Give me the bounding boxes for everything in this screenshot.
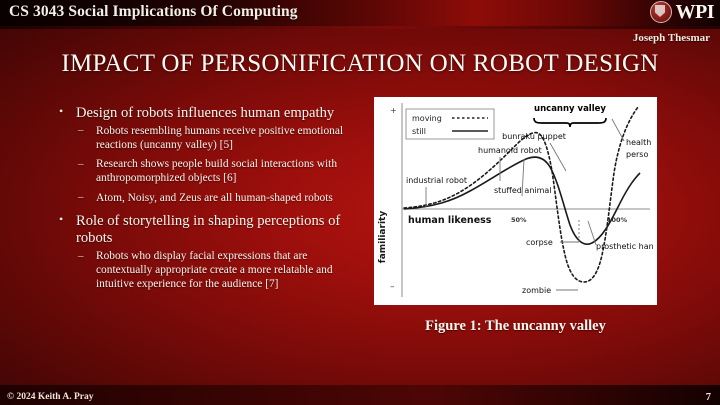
bullet-level2-text: Atom, Noisy, and Zeus are all human-shap… [96, 192, 333, 204]
presentation-slide: CS 3043 Social Implications Of Computing… [0, 0, 720, 405]
bullet-level2: – Robots who display facial expressions … [56, 250, 356, 291]
annotation-healthy-person: health [626, 138, 651, 147]
wpi-wordmark: WPI [676, 2, 715, 22]
bullet-level2-text: Robots resembling humans receive positiv… [96, 125, 343, 151]
dash-marker-icon: – [78, 250, 84, 263]
annotation-corpse: corpse [526, 238, 553, 247]
annotation-healthy-person-line2: perso [626, 150, 648, 159]
uncanny-valley-brace [534, 118, 606, 127]
slide-title: IMPACT OF PERSONIFICATION ON ROBOT DESIG… [0, 50, 720, 78]
page-number: 7 [706, 392, 711, 403]
legend-label-moving: moving [412, 114, 442, 123]
legend-label-still: still [412, 127, 426, 136]
wpi-seal-icon [650, 1, 672, 23]
x-axis-label: human likeness [408, 215, 492, 226]
bullet-level1-text: Design of robots influences human empath… [76, 105, 334, 121]
annotation-industrial-robot: industrial robot [406, 176, 467, 185]
bullet-level2-group: – Robots resembling humans receive posit… [56, 125, 356, 205]
dash-marker-icon: – [78, 124, 84, 137]
bullet-level1-text: Role of storytelling in shaping percepti… [76, 213, 340, 246]
figure-caption: Figure 1: The uncanny valley [374, 318, 657, 335]
slide-footer-band [0, 385, 720, 405]
bullet-level2: – Research shows people build social int… [56, 158, 356, 185]
bullet-level2-group: – Robots who display facial expressions … [56, 250, 356, 291]
x-tick-50: 50% [511, 216, 527, 224]
annotation-humanoid-robot: humanoid robot [478, 146, 542, 155]
bullet-level2-text: Research shows people build social inter… [96, 158, 337, 184]
annotation-bunraku-puppet: bunraku puppet [502, 132, 566, 141]
bullet-level2: – Atom, Noisy, and Zeus are all human-sh… [56, 192, 356, 206]
course-title: CS 3043 Social Implications Of Computing [9, 3, 298, 21]
uncanny-valley-chart: + – familiarity human likeness 50% 100% … [374, 97, 657, 305]
y-axis-label: familiarity [378, 211, 388, 264]
y-tick-positive: + [390, 106, 397, 115]
annotation-uncanny-valley: uncanny valley [534, 104, 606, 114]
bullet-level1: • Design of robots influences human empa… [56, 105, 356, 122]
slide-body-content: • Design of robots influences human empa… [56, 105, 356, 298]
y-tick-negative: – [390, 282, 395, 292]
bullet-level2: – Robots resembling humans receive posit… [56, 125, 356, 152]
bullet-level1: • Role of storytelling in shaping percep… [56, 213, 356, 247]
leader-prosthetic-hand [588, 221, 596, 245]
copyright-text: © 2024 Keith A. Pray [7, 392, 94, 402]
presenter-name: Joseph Thesmar [633, 32, 710, 44]
bullet-level2-text: Robots who display facial expressions th… [96, 250, 333, 289]
wpi-logo: WPI [650, 1, 715, 23]
uncanny-valley-figure: + – familiarity human likeness 50% 100% … [374, 97, 657, 305]
leader-healthy-person [612, 119, 624, 141]
annotation-prosthetic-hand: prosthetic han [596, 242, 654, 251]
leader-bunraku [550, 143, 566, 171]
annotation-zombie: zombie [522, 286, 551, 295]
dash-marker-icon: – [78, 158, 84, 171]
dash-marker-icon: – [78, 191, 84, 204]
bullet-marker-icon: • [59, 105, 63, 119]
bullet-marker-icon: • [59, 213, 63, 227]
